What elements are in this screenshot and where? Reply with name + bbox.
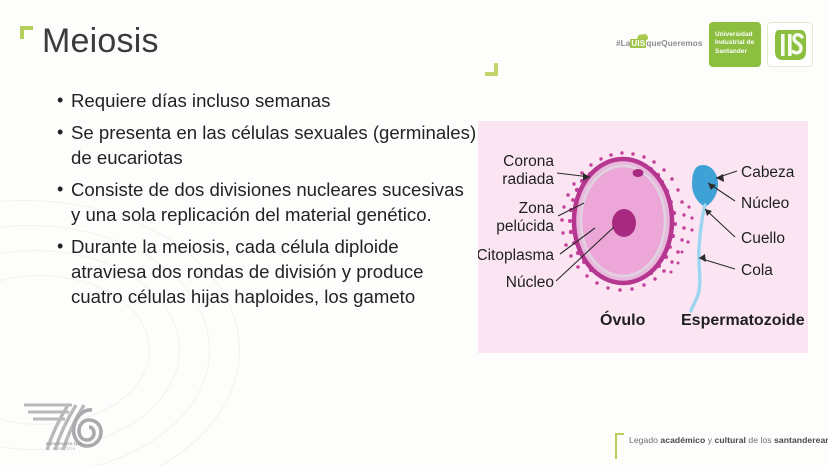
footer-tagline: Legado académico y cultural de los santa… xyxy=(629,435,828,445)
label-corona-radiada-line1: Corona xyxy=(503,153,554,170)
tagline-part-3: de los xyxy=(746,435,774,445)
anniversary-years: 1948 - 2024 xyxy=(29,447,99,451)
list-item: • Durante la meiosis, cada célula diploi… xyxy=(57,234,477,309)
nucleus-shape xyxy=(612,209,636,237)
label-nucleo-ovulo: Núcleo xyxy=(506,274,554,291)
hashtag-uis-mark: UIS xyxy=(630,39,646,48)
corner-bracket-accent-icon xyxy=(485,63,498,76)
ovum-sperm-diagram-image: Corona radiada Zona pelúcida Citoplasma … xyxy=(478,121,808,353)
uis-wordmark-logo: Universidad Industrial de Santander xyxy=(709,22,761,67)
tagline-part-1: Legado xyxy=(629,435,660,445)
tagline-part-2: y xyxy=(705,435,714,445)
wordmark-line-2: Industrial de xyxy=(715,39,761,47)
label-cola: Cola xyxy=(741,262,773,279)
hashtag-prefix: #La xyxy=(616,39,630,48)
list-item: • Requiere días incluso semanas xyxy=(57,88,477,113)
list-item: • Consiste de dos divisiones nucleares s… xyxy=(57,177,477,227)
ovum-caption: Óvulo xyxy=(600,310,646,329)
list-item-text: Se presenta en las células sexuales (ger… xyxy=(71,120,477,170)
list-item-text: Durante la meiosis, cada célula diploide… xyxy=(71,234,477,309)
bullet-list: • Requiere días incluso semanas • Se pre… xyxy=(57,88,477,316)
label-nucleo-espermatozoide: Núcleo xyxy=(741,195,789,212)
bullet-dot-icon: • xyxy=(57,120,71,145)
bullet-dot-icon: • xyxy=(57,88,71,113)
tagline-bold-academico: académico xyxy=(660,435,705,445)
bullet-dot-icon: • xyxy=(57,177,71,202)
sperm-caption: Espermatozoide xyxy=(681,312,805,329)
list-item: • Se presenta en las células sexuales (g… xyxy=(57,120,477,170)
brand-hashtag: #LaUISqueQueremos xyxy=(616,39,703,48)
label-cuello: Cuello xyxy=(741,230,785,247)
label-cabeza: Cabeza xyxy=(741,164,795,181)
bullet-dot-icon: • xyxy=(57,234,71,259)
label-zona-pelucida-line2: pelúcida xyxy=(496,218,554,235)
hashtag-suffix: queQueremos xyxy=(646,39,702,48)
label-citoplasma: Citoplasma xyxy=(478,247,554,264)
uis-shield-logo xyxy=(767,22,813,67)
page-title: Meiosis xyxy=(42,22,159,61)
footer-bracket-icon xyxy=(615,433,624,459)
anniversary-caption: Aniversario UIS xyxy=(29,441,99,447)
tagline-bold-santandereanos: santandereanos xyxy=(774,435,828,445)
label-zona-pelucida-line1: Zona xyxy=(519,200,555,217)
corner-bracket-top-left-icon xyxy=(20,26,33,39)
label-corona-radiada-line2: radiada xyxy=(502,171,554,188)
tagline-bold-cultural: cultural xyxy=(715,435,746,445)
list-item-text: Requiere días incluso semanas xyxy=(71,88,477,113)
uis-shield-icon xyxy=(768,23,812,66)
wordmark-line-3: Santander xyxy=(715,48,761,56)
list-item-text: Consiste de dos divisiones nucleares suc… xyxy=(71,177,477,227)
wordmark-line-1: Universidad xyxy=(715,31,761,39)
polar-body-shape xyxy=(633,169,644,177)
